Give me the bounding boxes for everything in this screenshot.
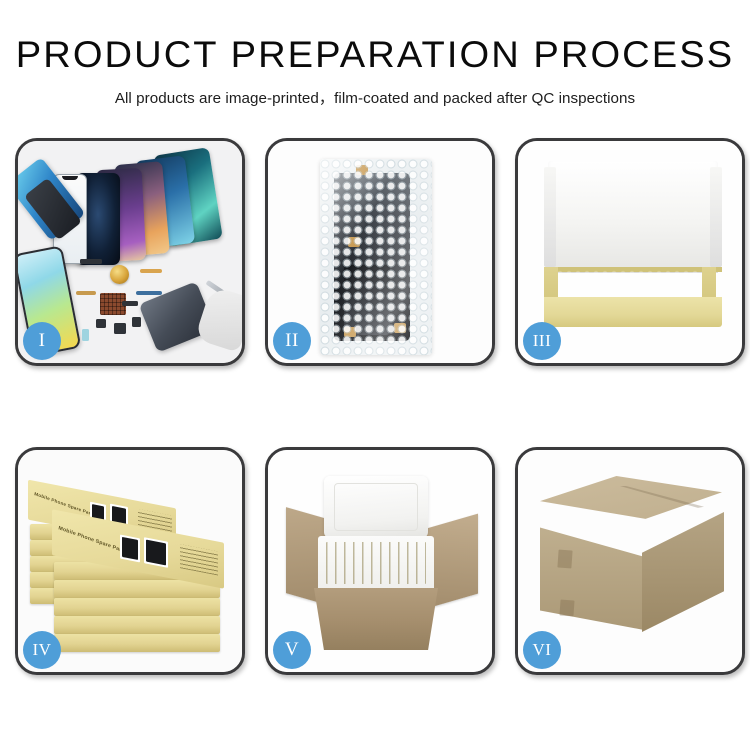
step-3-badge: III bbox=[523, 322, 561, 360]
small-part-2 bbox=[96, 319, 106, 328]
plastic-sheen bbox=[320, 159, 432, 355]
stack-box-r3 bbox=[54, 598, 220, 616]
step-1-numeral: I bbox=[39, 330, 46, 352]
process-step-2[interactable]: II bbox=[265, 138, 495, 366]
stack-box-r5 bbox=[54, 634, 220, 652]
step-2-numeral: II bbox=[285, 330, 299, 352]
box-stack: Mobile Phone Spare Parts Mobile Phone Sp… bbox=[26, 470, 240, 660]
process-step-6[interactable]: VI bbox=[515, 447, 745, 675]
page-title: PRODUCT PREPARATION PROCESS bbox=[0, 36, 750, 75]
small-part-5 bbox=[82, 329, 89, 341]
page-subtitle: All products are image-printed，film-coat… bbox=[0, 86, 750, 108]
box-spec-lines-lower bbox=[180, 544, 218, 575]
bubble-wrap-bag bbox=[320, 159, 432, 355]
step-4-numeral: IV bbox=[33, 640, 52, 660]
step-4-badge: IV bbox=[23, 631, 61, 669]
page-header: PRODUCT PREPARATION PROCESS All products… bbox=[0, 0, 750, 108]
step-5-numeral: V bbox=[285, 639, 299, 661]
small-part-6 bbox=[122, 301, 138, 306]
step-5-badge: V bbox=[273, 631, 311, 669]
phone-notch bbox=[62, 176, 78, 180]
gold-coil-part bbox=[110, 265, 129, 284]
box-label-lower: Mobile Phone Spare Parts bbox=[58, 525, 127, 555]
stack-box-r4 bbox=[54, 616, 220, 634]
process-step-5[interactable]: V bbox=[265, 447, 495, 675]
small-part-3 bbox=[114, 323, 126, 334]
carton-tape-lower bbox=[559, 600, 574, 617]
process-step-4[interactable]: Mobile Phone Spare Parts Mobile Phone Sp… bbox=[15, 447, 245, 675]
foam-box-lid bbox=[324, 476, 428, 538]
sealed-carton-front bbox=[540, 508, 644, 630]
bubble-wrapped-contents bbox=[556, 269, 710, 299]
step-3-numeral: III bbox=[533, 331, 551, 351]
small-part-4 bbox=[132, 317, 141, 327]
process-step-1[interactable]: I bbox=[15, 138, 245, 366]
step-2-badge: II bbox=[273, 322, 311, 360]
flex-cable-3 bbox=[76, 291, 96, 295]
small-part-1 bbox=[80, 259, 102, 264]
box-front-panel bbox=[544, 297, 722, 327]
step-6-badge: VI bbox=[523, 631, 561, 669]
process-step-3[interactable]: III bbox=[515, 138, 745, 366]
sealed-carton-side bbox=[642, 512, 724, 632]
step-1-badge: I bbox=[23, 322, 61, 360]
flex-cable-1 bbox=[140, 269, 162, 273]
flex-cable-2 bbox=[136, 291, 162, 295]
carton-tape-upper bbox=[557, 550, 572, 569]
box-window-lower-2 bbox=[144, 537, 168, 568]
yellow-boxes-inside bbox=[326, 542, 426, 584]
carton-body bbox=[314, 588, 438, 650]
foam-lid bbox=[548, 161, 718, 273]
box-window-lower-1 bbox=[120, 535, 140, 563]
step-6-numeral: VI bbox=[533, 640, 552, 660]
process-step-grid: I II III bbox=[15, 138, 745, 690]
